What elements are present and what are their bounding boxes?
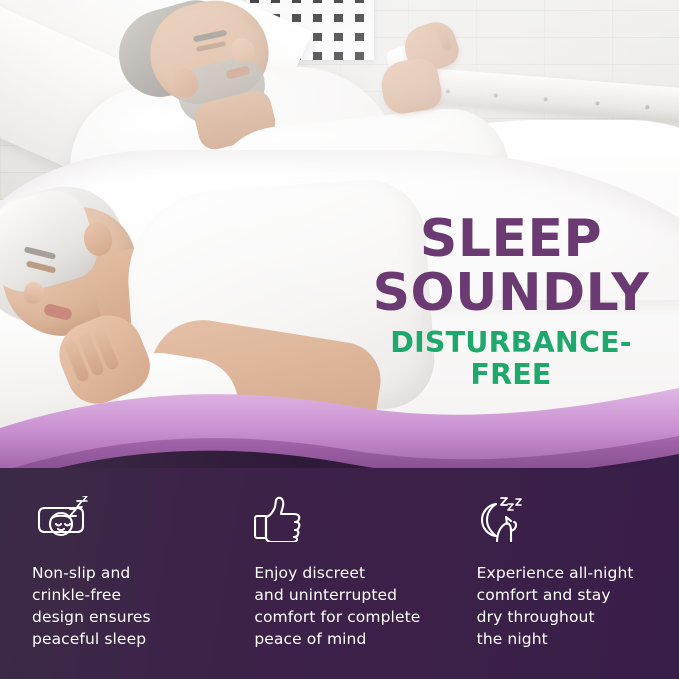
feature-text: Enjoy discreet and uninterrupted comfort… xyxy=(254,562,440,650)
feature-item: Non-slip and crinkle-free design ensures… xyxy=(0,468,234,679)
feature-text: Non-slip and crinkle-free design ensures… xyxy=(32,562,218,650)
feature-list: Non-slip and crinkle-free design ensures… xyxy=(0,468,679,679)
thumbs-up-icon xyxy=(254,496,440,542)
feature-item: Enjoy discreet and uninterrupted comfort… xyxy=(234,468,456,679)
feature-panel: Non-slip and crinkle-free design ensures… xyxy=(0,468,679,679)
headline-line-1: SLEEP xyxy=(352,212,670,266)
feature-item: Experience all-night comfort and stay dr… xyxy=(457,468,679,679)
pillow-sleeping-face-icon xyxy=(32,496,218,542)
headline-block: SLEEP SOUNDLY DISTURBANCE-FREE xyxy=(352,212,670,390)
feature-text: Experience all-night comfort and stay dr… xyxy=(477,562,663,650)
product-feature-banner: SLEEP SOUNDLY DISTURBANCE-FREE xyxy=(0,0,679,679)
headline-subline: DISTURBANCE-FREE xyxy=(352,327,670,390)
headline-line-2: SOUNDLY xyxy=(352,266,670,320)
crescent-moon-sleeping-cat-icon xyxy=(477,496,663,542)
